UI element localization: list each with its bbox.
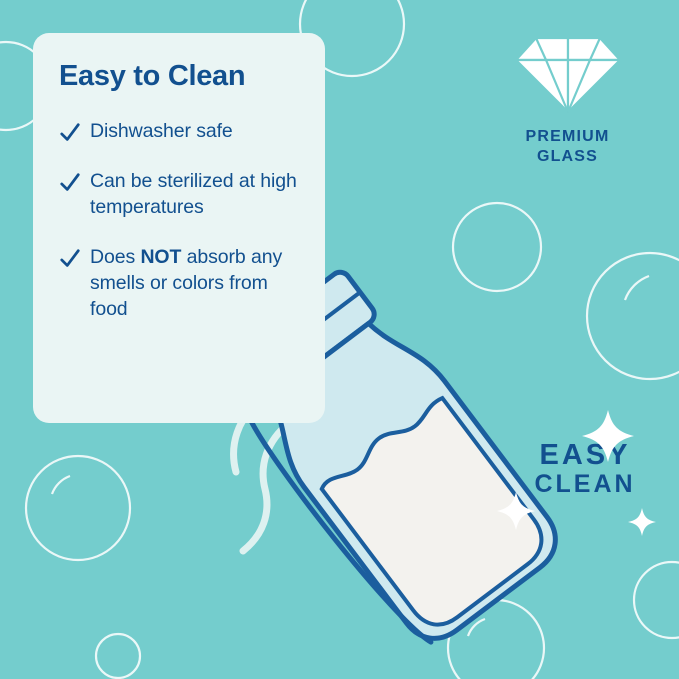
bullet-text-3: Does NOT absorb any smells or colors fro… bbox=[90, 245, 299, 323]
list-item: Does NOT absorb any smells or colors fro… bbox=[59, 245, 299, 323]
premium-badge-line1: PREMIUM bbox=[526, 128, 610, 145]
check-icon bbox=[59, 122, 81, 144]
bullet-text-2: Can be sterilized at high temperatures bbox=[90, 169, 299, 221]
list-item: Dishwasher safe bbox=[59, 119, 299, 145]
bullet-text-3-emphasis: NOT bbox=[140, 246, 181, 268]
sparkles-group bbox=[490, 400, 670, 580]
promo-graphic: Easy to Clean Dishwasher safe Can be ste… bbox=[0, 0, 679, 679]
premium-badge-line2: GLASS bbox=[537, 148, 598, 165]
list-item: Can be sterilized at high temperatures bbox=[59, 169, 299, 221]
feature-card: Easy to Clean Dishwasher safe Can be ste… bbox=[33, 33, 325, 423]
sparkle-icon bbox=[582, 410, 634, 462]
check-icon bbox=[59, 172, 81, 194]
diamond-icon bbox=[512, 34, 624, 116]
card-title: Easy to Clean bbox=[59, 61, 299, 93]
bullet-text-1: Dishwasher safe bbox=[90, 119, 233, 145]
sparkle-icon bbox=[628, 508, 656, 536]
premium-glass-badge: PREMIUMGLASS bbox=[505, 34, 630, 167]
check-icon bbox=[59, 248, 81, 270]
sparkle-icon bbox=[497, 492, 535, 530]
bullet-text-3-a: Does bbox=[90, 246, 140, 268]
